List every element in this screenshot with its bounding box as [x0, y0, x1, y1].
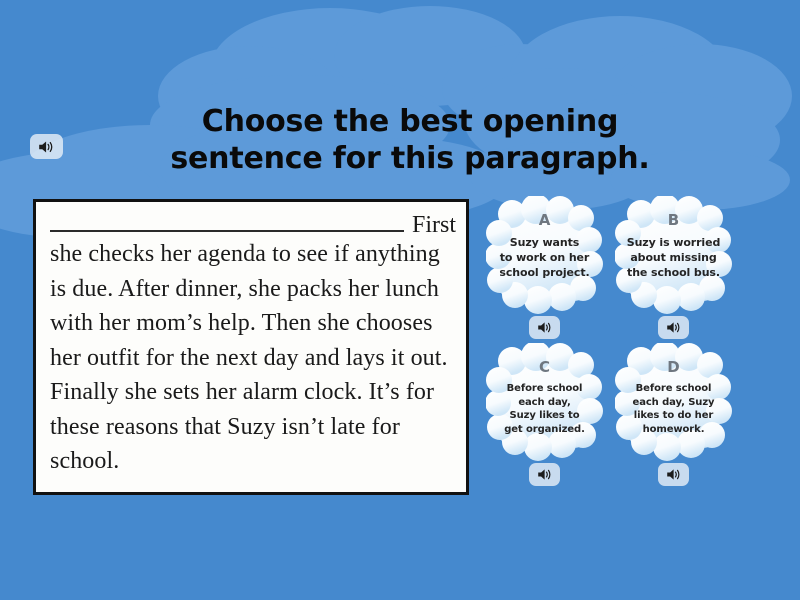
answer-row-top: A Suzy wants to work on her school proje… — [483, 196, 735, 339]
blank-underline — [50, 210, 404, 232]
speaker-icon — [666, 321, 682, 334]
answer-options-grid: A Suzy wants to work on her school proje… — [483, 196, 735, 486]
cloud-shape-d — [615, 343, 732, 461]
cloud-shape-c — [486, 343, 603, 461]
page-title: Choose the best opening sentence for thi… — [150, 103, 670, 177]
answer-speaker-button-b[interactable] — [658, 316, 689, 339]
passage-body-text: she checks her agenda to see if anything… — [50, 237, 456, 479]
answer-option-d[interactable]: D Before school each day, Suzy likes to … — [615, 343, 732, 461]
answer-row-bottom: C Before school each day, Suzy likes to … — [483, 343, 735, 486]
passage-blank-line: First — [50, 210, 456, 239]
answer-cell-a: A Suzy wants to work on her school proje… — [483, 196, 606, 339]
cloud-shape-b — [615, 196, 732, 314]
answer-speaker-button-c[interactable] — [529, 463, 560, 486]
answer-cell-d: D Before school each day, Suzy likes to … — [612, 343, 735, 486]
answer-option-b[interactable]: B Suzy is worried about missing the scho… — [615, 196, 732, 314]
question-speaker-button[interactable] — [30, 134, 63, 159]
answer-cell-b: B Suzy is worried about missing the scho… — [612, 196, 735, 339]
passage-image-card: First she checks her agenda to see if an… — [33, 199, 469, 495]
speaker-icon — [666, 468, 682, 481]
answer-speaker-button-a[interactable] — [529, 316, 560, 339]
answer-cell-c: C Before school each day, Suzy likes to … — [483, 343, 606, 486]
speaker-icon — [537, 468, 553, 481]
page-title-line-2: sentence for this paragraph. — [150, 140, 670, 177]
cloud-shape-a — [486, 196, 603, 314]
quiz-stage: Choose the best opening sentence for thi… — [0, 0, 800, 600]
answer-speaker-button-d[interactable] — [658, 463, 689, 486]
speaker-icon — [537, 321, 553, 334]
passage-content: First she checks her agenda to see if an… — [50, 210, 456, 479]
passage-first-word: First — [412, 212, 456, 239]
answer-option-c[interactable]: C Before school each day, Suzy likes to … — [486, 343, 603, 461]
answer-option-a[interactable]: A Suzy wants to work on her school proje… — [486, 196, 603, 314]
page-title-line-1: Choose the best opening — [150, 103, 670, 140]
speaker-icon — [38, 140, 55, 154]
